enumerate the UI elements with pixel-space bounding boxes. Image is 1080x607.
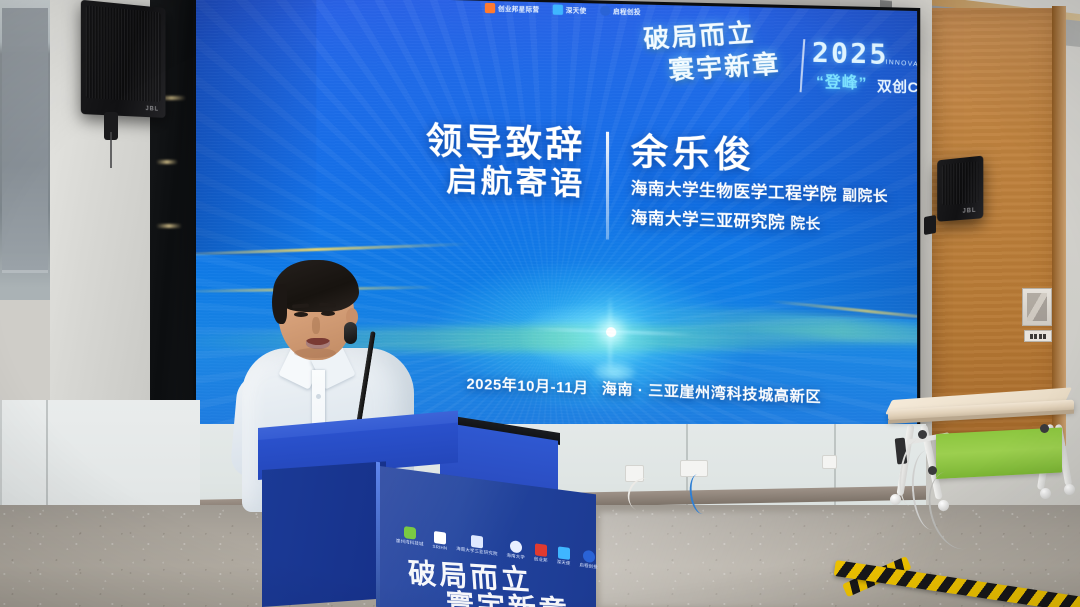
podium-edge-highlight xyxy=(376,462,380,607)
brand-year: 2025 xyxy=(812,37,889,71)
microphone-head xyxy=(344,322,357,344)
podium-logo-5-mark xyxy=(535,543,547,557)
slide-title-line2: 启航寄语 xyxy=(426,161,586,204)
sponsor-1-mark xyxy=(485,3,495,13)
sponsor-2-label: 深天使 xyxy=(566,5,587,15)
wood-grain xyxy=(928,8,1056,438)
brand-quote-label: “登峰” xyxy=(816,70,867,93)
brand-divider xyxy=(799,39,805,92)
speaker-brand-label: JBL xyxy=(963,208,977,215)
wall-label-plate xyxy=(1024,330,1052,342)
sponsor-logo-2: 深天使 xyxy=(553,4,587,15)
eye-left xyxy=(294,312,308,317)
slide-title-line1: 领导致辞 xyxy=(426,121,586,166)
podium-logo-6: 深天使 xyxy=(557,546,571,567)
podium-logo-4-mark xyxy=(510,540,522,554)
speaker-grille xyxy=(86,5,161,102)
slide-vertical-divider xyxy=(606,132,609,240)
sponsor-3-label: 启程创投 xyxy=(613,6,641,16)
brand-subtitle: 双创CEO特训营 xyxy=(877,76,917,100)
brand-calligraphy-line2: 寰宇新章 xyxy=(667,44,782,87)
speaker-brand-label: JBL xyxy=(146,106,159,113)
podium-logo-2-mark xyxy=(434,531,446,545)
poster-graphic xyxy=(1027,293,1047,321)
role-title-1: 副院长 xyxy=(842,187,888,205)
table-knob xyxy=(918,430,927,439)
photo-scene: 创业邦星际营 深天使 启程创投 破局而立 寰宇新章 2025 INNOVATIO… xyxy=(0,0,1080,607)
podium-logo-1-mark xyxy=(404,526,416,540)
wood-wall-panel xyxy=(928,8,1056,438)
speaker-cable-left xyxy=(110,132,112,168)
hair-sideburn xyxy=(272,284,287,324)
speaker-grille xyxy=(942,161,979,205)
slide-speaker-block: 余乐俊 海南大学生物医学工程学院 副院长 海南大学三亚研究院 院长 xyxy=(631,130,888,240)
wall-speaker-right: JBL xyxy=(937,156,983,222)
speaker-mount-right xyxy=(924,215,936,235)
table-caster xyxy=(890,494,901,505)
podium-left-face xyxy=(262,461,386,607)
wall-speaker-left: JBL xyxy=(81,0,166,118)
nose xyxy=(312,317,320,334)
slide-title-group: 领导致辞 启航寄语 xyxy=(426,121,586,205)
sponsor-2-mark xyxy=(553,4,563,15)
podium-logo-6-mark xyxy=(558,546,570,560)
wall-poster xyxy=(1022,288,1052,326)
podium-logo-3-mark xyxy=(471,535,483,549)
slide-speaker-name: 余乐俊 xyxy=(631,130,888,181)
slide-brand-lockup: 破局而立 寰宇新章 2025 INNOVATION · BOUNDLESS “登… xyxy=(643,13,904,106)
podium-logo-2: SRIHN xyxy=(433,531,448,551)
sponsor-logo-1: 创业邦星际营 xyxy=(485,3,539,15)
wood-wall-edge xyxy=(1052,6,1066,446)
podium-logo-7: 启程创投 xyxy=(579,549,597,570)
podium-logo-5: 创业邦 xyxy=(534,543,548,564)
sponsor-3-mark xyxy=(600,6,610,17)
wall-outlet-3 xyxy=(822,455,837,469)
role-org-1: 海南大学生物医学工程学院 xyxy=(631,181,837,205)
eye-right xyxy=(321,311,335,316)
podium-calligraphy-line2: 寰宇新章 xyxy=(445,582,572,607)
chin-shadow xyxy=(294,348,336,358)
role-org-2: 海南大学三亚研究院 xyxy=(631,210,785,232)
table-caster xyxy=(1040,488,1051,499)
table-knob xyxy=(1040,424,1049,433)
role-title-2: 院长 xyxy=(790,215,820,232)
sponsor-logo-3: 启程创投 xyxy=(600,6,641,17)
podium-logo-1: 崖州湾科技城 xyxy=(396,525,424,548)
slide-speaker-role-1: 海南大学生物医学工程学院 副院长 xyxy=(631,178,888,211)
left-window xyxy=(0,0,56,300)
table-caster xyxy=(1064,484,1075,495)
sponsor-1-label: 创业邦星际营 xyxy=(498,4,539,14)
window-blind xyxy=(2,8,48,273)
podium-logo-7-mark xyxy=(583,550,595,564)
